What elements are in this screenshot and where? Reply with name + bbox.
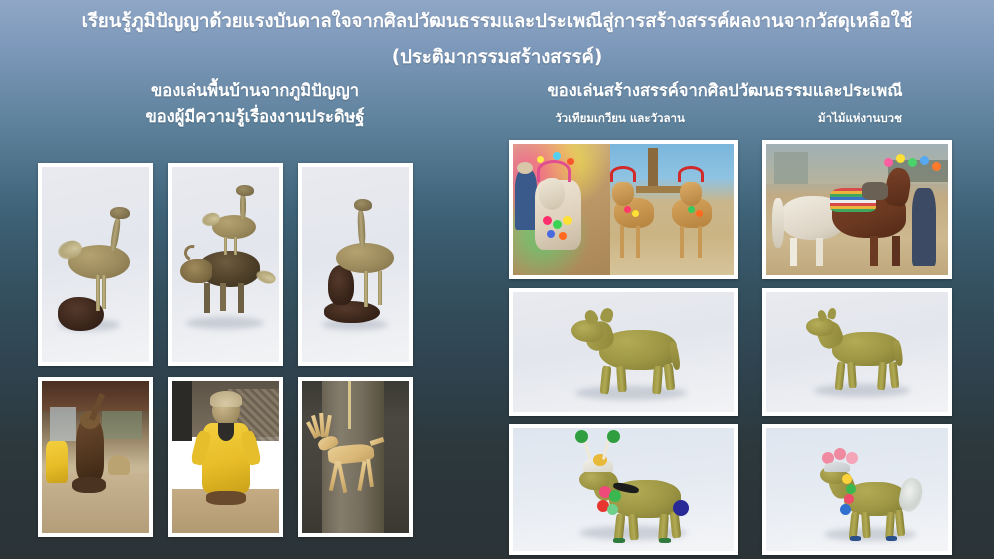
photo-canvas xyxy=(42,167,149,362)
page-title: เรียนรู้ภูมิปัญญาด้วยแรงบันดาลใจจากศิลปว… xyxy=(0,8,994,35)
photo-workshop-carved-wooden-figure[interactable] xyxy=(38,377,153,537)
right-section-sublabel-horse: ม้าไม้แห่งานบวช xyxy=(760,110,960,128)
photo-decorated-ordination-horse[interactable] xyxy=(762,140,952,279)
right-section-heading: ของเล่นสร้างสรรค์จากศิลปวัฒนธรรมและประเพ… xyxy=(490,78,960,104)
photo-canvas xyxy=(513,428,734,551)
photo-canvas xyxy=(172,381,279,533)
photo-canvas xyxy=(766,144,948,275)
photo-clay-bull-figurine-decorated[interactable] xyxy=(509,424,738,555)
photo-palm-leaf-deer-hanging-on-tree[interactable] xyxy=(298,377,413,537)
photo-coconut-fiber-bird-on-shell-base[interactable] xyxy=(298,163,413,366)
photo-canvas xyxy=(766,292,948,412)
photo-canvas xyxy=(172,167,279,362)
photo-clay-bull-figurine-plain[interactable] xyxy=(509,288,738,416)
right-section-sublabel-cattle: วัวเทียมเกวียน และวัวลาน xyxy=(505,110,735,128)
page-subtitle: (ประติมากรรมสร้างสรรค์) xyxy=(0,43,994,72)
photo-coconut-fiber-bird-on-driftwood[interactable] xyxy=(38,163,153,366)
photo-canvas xyxy=(513,292,734,412)
photo-canvas xyxy=(766,428,948,551)
left-section-heading-line1: ของเล่นพื้นบ้านจากภูมิปัญญา xyxy=(55,78,455,104)
photo-coconut-fiber-buffalo-with-bird[interactable] xyxy=(168,163,283,366)
photo-canvas xyxy=(513,144,734,275)
photo-canvas xyxy=(302,381,409,533)
photo-clay-horse-figurine-decorated[interactable] xyxy=(762,424,952,555)
photo-canvas xyxy=(302,167,409,362)
photo-canvas xyxy=(42,381,149,533)
left-section-heading-line2: ของผู้มีความรู้เรื่องงานประดิษฐ์ xyxy=(55,104,455,130)
photo-decorated-festival-cattle[interactable] xyxy=(509,140,738,279)
presentation-slide: เรียนรู้ภูมิปัญญาด้วยแรงบันดาลใจจากศิลปว… xyxy=(0,0,994,559)
photo-clay-horse-figurine-plain[interactable] xyxy=(762,288,952,416)
photo-workshop-doll-in-yellow-robe[interactable] xyxy=(168,377,283,537)
